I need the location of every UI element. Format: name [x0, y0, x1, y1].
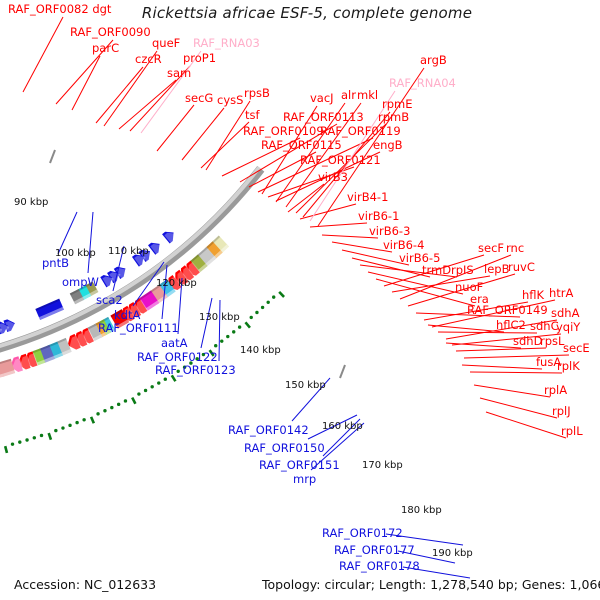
gene-label-forward[interactable]: secF — [478, 243, 504, 255]
ruler-minor-tick — [261, 306, 264, 309]
rna-label[interactable]: RAF_RNA04 — [389, 78, 456, 90]
ruler-minor-tick — [25, 438, 28, 441]
gene-label-reverse[interactable]: kdtA — [114, 310, 140, 322]
label-leader-line — [300, 204, 356, 219]
label-leader-line — [446, 343, 521, 348]
ruler-minor-tick — [214, 344, 217, 347]
gene-label-forward[interactable]: sdhC — [530, 321, 559, 333]
ruler-tick-label: 150 kbp — [285, 381, 326, 391]
ruler-minor-tick — [144, 389, 147, 392]
gene-label-reverse[interactable]: sca2 — [96, 295, 123, 307]
label-leader-line — [462, 365, 542, 369]
ruler-minor-tick — [110, 406, 113, 409]
gene-label-forward[interactable]: RAF_ORF0121 — [300, 155, 381, 167]
label-leader-line — [119, 80, 176, 129]
gene-label-forward[interactable]: RAF_ORF0113 — [283, 112, 364, 124]
ruler-grey-tick — [50, 150, 55, 163]
gene-label-forward[interactable]: mkl — [357, 90, 378, 102]
gene-label-reverse[interactable]: RAF_ORF0122 — [137, 352, 218, 364]
label-leader-line — [474, 385, 550, 397]
ruler-tick-label: 90 kbp — [14, 198, 48, 208]
ruler-minor-tick — [220, 339, 223, 342]
gene-label-forward[interactable]: rpIS — [451, 265, 474, 277]
label-leader-line — [201, 122, 249, 168]
gene-label-forward[interactable]: rpmB — [378, 112, 409, 124]
gene-label-forward[interactable]: rpmE — [382, 99, 413, 111]
gene-feature-reverse — [35, 299, 64, 320]
ruler-tick-label: 120 kbp — [156, 279, 197, 289]
ruler-minor-tick — [103, 409, 106, 412]
gene-box-highlight — [0, 374, 4, 380]
gene-label-forward[interactable]: secG — [185, 93, 213, 105]
gene-label-forward[interactable]: czcR — [135, 54, 162, 66]
gene-label-forward[interactable]: hflK — [522, 290, 544, 302]
gene-arrow-highlight — [150, 240, 165, 255]
gene-label-forward[interactable]: RAF_ORF0082 dgt — [8, 4, 111, 16]
gene-label-reverse[interactable]: ompW — [62, 277, 99, 289]
ruler-major-tick — [49, 433, 51, 440]
ruler-major-tick — [279, 292, 284, 297]
ruler-minor-tick — [232, 330, 235, 333]
gene-label-forward[interactable]: rplK — [557, 361, 580, 373]
ruler-minor-tick — [164, 377, 167, 380]
ruler-minor-tick — [68, 424, 71, 427]
gene-label-forward[interactable]: engB — [373, 140, 403, 152]
gene-label-forward[interactable]: RAF_ORF0149 — [467, 305, 548, 317]
topology-text: Topology: circular; Length: 1,278,540 bp… — [262, 577, 600, 592]
gene-label-forward[interactable]: secE — [563, 343, 590, 355]
accession-text: Accession: NC_012633 — [14, 577, 156, 592]
ruler-minor-tick — [75, 421, 78, 424]
gene-label-forward[interactable]: sdhA — [551, 308, 579, 320]
ruler-minor-tick — [157, 381, 160, 384]
gene-label-forward[interactable]: yqiY — [556, 322, 580, 334]
ruler-minor-tick — [18, 440, 21, 443]
gene-label-forward[interactable]: rplL — [561, 426, 583, 438]
genome-map-viewer: Rickettsia africae ESF-5, complete genom… — [0, 0, 600, 600]
ruler-major-tick — [245, 322, 249, 327]
ruler-minor-tick — [150, 385, 153, 388]
gene-label-forward[interactable]: virB4-1 — [347, 192, 388, 204]
gene-label-forward[interactable]: rpsL — [540, 336, 564, 348]
gene-label-forward[interactable]: virB6-4 — [383, 240, 424, 252]
ruler-tick-label: 140 kbp — [240, 346, 281, 356]
gene-label-reverse[interactable]: RAF_ORF0172 — [322, 528, 403, 540]
gene-label-reverse[interactable]: RAF_ORF0178 — [339, 561, 420, 573]
ruler-tick-label: 180 kbp — [401, 506, 442, 516]
ruler-minor-tick — [226, 335, 229, 338]
label-leader-line — [88, 212, 93, 273]
gene-label-forward[interactable]: rplA — [544, 385, 567, 397]
gene-label-forward[interactable]: htrA — [549, 288, 573, 300]
ruler-tick-label: 160 kbp — [322, 422, 363, 432]
ruler-major-tick — [91, 417, 94, 423]
ruler-minor-tick — [96, 412, 99, 415]
gene-label-reverse[interactable]: pntB — [42, 258, 69, 270]
label-leader-line — [23, 17, 63, 92]
ruler-tick-label: 190 kbp — [432, 549, 473, 559]
ruler-tick-label: 110 kbp — [108, 247, 149, 257]
gene-label-forward[interactable]: queF — [152, 38, 180, 50]
ruler-major-tick — [132, 398, 135, 404]
gene-label-forward[interactable]: RAF_ORF0115 — [261, 140, 342, 152]
label-leader-line — [456, 348, 546, 351]
gene-label-forward[interactable]: virB3 — [318, 172, 348, 184]
gene-arrow-highlight — [164, 229, 179, 244]
ruler-minor-tick — [124, 399, 127, 402]
ruler-minor-tick — [40, 434, 43, 437]
gene-label-forward[interactable]: RAF_ORF0109 — [243, 126, 324, 138]
ruler-minor-tick — [117, 403, 120, 406]
gene-label-forward[interactable]: RAF_ORF0090 — [70, 27, 151, 39]
ruler-minor-tick — [82, 418, 85, 421]
label-leader-line — [480, 398, 557, 418]
gene-label-forward[interactable]: tsf — [245, 110, 260, 122]
gene-label-reverse[interactable]: RAF_ORF0111 — [98, 323, 179, 335]
label-leader-line — [219, 300, 220, 361]
rna-label[interactable]: RAF_RNA03 — [193, 38, 260, 50]
gene-label-forward[interactable]: ruvC — [508, 262, 535, 274]
ruler-minor-tick — [238, 325, 241, 328]
ruler-major-tick — [5, 446, 7, 453]
ruler-minor-tick — [54, 429, 57, 432]
gene-label-forward[interactable]: alr — [341, 90, 356, 102]
gene-label-forward[interactable]: rplJ — [552, 406, 571, 418]
ruler-tick-label: 100 kbp — [55, 249, 96, 259]
ruler-minor-tick — [137, 392, 140, 395]
gene-label-forward[interactable]: hflC2 — [496, 320, 526, 332]
label-leader-line — [201, 298, 212, 348]
genome-map-canvas — [0, 0, 600, 600]
ruler-minor-tick — [11, 442, 14, 445]
gene-label-forward[interactable]: vacJ — [310, 93, 334, 105]
gene-label-forward[interactable]: RAF_ORF0119 — [320, 126, 401, 138]
ruler-minor-tick — [266, 301, 269, 304]
gene-label-forward[interactable]: lepB — [484, 264, 509, 276]
gene-label-reverse[interactable]: RAF_ORF0151 — [259, 460, 340, 472]
label-leader-line — [72, 56, 100, 110]
gene-label-forward[interactable]: virB6-1 — [358, 211, 399, 223]
gene-label-forward[interactable]: trmD — [422, 265, 451, 277]
gene-label-forward[interactable]: rnc — [506, 243, 524, 255]
label-leader-line — [157, 105, 194, 151]
gene-label-reverse[interactable]: RAF_ORF0142 — [228, 425, 309, 437]
ruler-minor-tick — [272, 295, 275, 298]
page-title-text: Rickettsia africae ESF-5, complete genom… — [142, 4, 472, 22]
gene-label-reverse[interactable]: RAF_ORF0150 — [244, 443, 325, 455]
gene-label-reverse[interactable]: RAF_ORF0123 — [155, 365, 236, 377]
ruler-tick-label: 170 kbp — [362, 461, 403, 471]
ruler-tick-label: 130 kbp — [199, 313, 240, 323]
gene-label-reverse[interactable]: RAF_ORF0177 — [334, 545, 415, 557]
gene-label-forward[interactable]: sdhD — [513, 336, 542, 348]
gene-label-reverse[interactable]: mrp — [293, 474, 316, 486]
ruler-minor-tick — [61, 426, 64, 429]
label-leader-line — [470, 372, 562, 373]
gene-label-forward[interactable]: virB6-3 — [369, 226, 410, 238]
ruler-minor-tick — [33, 436, 36, 439]
gene-label-forward[interactable]: argB — [420, 55, 447, 67]
gene-label-forward[interactable]: sam — [167, 68, 191, 80]
gene-label-reverse[interactable]: aatA — [161, 338, 187, 350]
gene-label-forward[interactable]: cysS — [217, 95, 243, 107]
gene-label-forward[interactable]: proP1 — [183, 53, 216, 65]
ruler-track — [0, 292, 284, 473]
gene-label-forward[interactable]: parC — [92, 43, 119, 55]
ruler-grey-tick — [340, 365, 345, 378]
gene-feature-reverse — [162, 227, 179, 244]
ruler-minor-tick — [255, 311, 258, 314]
gene-label-forward[interactable]: rpsB — [244, 88, 270, 100]
ruler-minor-tick — [250, 316, 253, 319]
